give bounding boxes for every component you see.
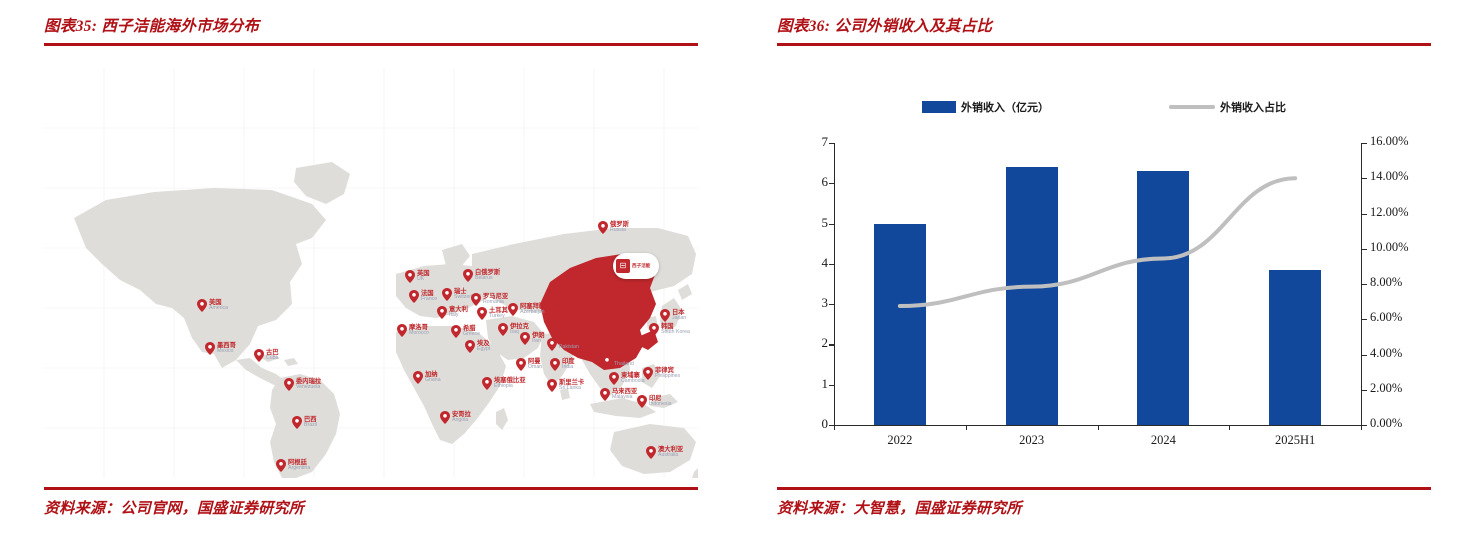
map-marker-label-en: Brazil — [304, 423, 317, 428]
map-marker-label: 希腊Greece — [463, 326, 480, 338]
map-marker-label-en: Ethiopia — [494, 384, 525, 389]
map-marker-label: 斯里兰卡Sri Lanka — [559, 380, 584, 392]
map-marker-label-en: Egypt — [477, 347, 490, 352]
category-label-2025H1: 2025H1 — [1229, 433, 1361, 448]
map-marker-label-en: Azerbaijan — [520, 310, 545, 315]
map-marker-label: 阿曼Oman — [528, 359, 542, 371]
factory-icon: ⊟ — [616, 259, 630, 273]
left-tick-mark — [829, 304, 834, 305]
map-marker-label-en: Malaysia — [612, 395, 637, 400]
map-marker-label: 白俄罗斯Belarus — [475, 270, 500, 282]
map-marker-label: 委内瑞拉Venezuela — [296, 379, 321, 391]
category-label-2023: 2023 — [966, 433, 1098, 448]
map-marker-label-en: Thailand — [614, 362, 634, 367]
map-marker-label-en: Cuba — [266, 356, 279, 361]
source-note-chart: 资料来源：大智慧，国盛证券研究所 — [777, 497, 1022, 518]
category-label-2024: 2024 — [1098, 433, 1230, 448]
legend-label-bar: 外销收入（亿元） — [961, 99, 1049, 115]
line-series — [834, 143, 1361, 425]
map-marker-label: 印尼Indonesia — [649, 396, 672, 408]
category-tick-mark — [1098, 425, 1099, 430]
category-label-2022: 2022 — [834, 433, 966, 448]
map-marker-label-en: Australia — [658, 453, 683, 458]
right-tick-mark — [1361, 284, 1367, 285]
map-marker-label-en: Pakistan — [559, 345, 584, 350]
source-note-map: 资料来源：公司官网，国盛证券研究所 — [44, 497, 304, 518]
right-tick-label: 6.00% — [1370, 310, 1440, 325]
map-marker-label: 阿根廷Argentina — [288, 460, 310, 472]
map-marker-label: 美国America — [209, 300, 228, 312]
page-title-map: 图表35: 西子洁能海外市场分布 — [44, 14, 259, 36]
left-tick-mark — [829, 344, 834, 345]
map-marker-label-en: India — [562, 365, 575, 370]
page-title-chart: 图表36: 公司外销收入及其占比 — [777, 14, 992, 36]
left-tick-label: 0 — [788, 416, 828, 432]
left-tick-mark — [829, 385, 834, 386]
map-marker-label-en: Mexico — [217, 349, 236, 354]
right-tick-label: 14.00% — [1370, 169, 1440, 184]
map-marker-label: 法国France — [421, 291, 437, 303]
map-marker-label-en: Greece — [463, 332, 480, 337]
headquarters-label: 西子洁能 — [632, 264, 650, 269]
right-tick-mark — [1361, 178, 1367, 179]
map-marker-label: 柬埔寨Cambodia — [621, 373, 645, 385]
chart-panel: 图表36: 公司外销收入及其占比 外销收入（亿元） 外销收入占比 0123456… — [733, 0, 1465, 552]
map-marker-label: 土耳其Turkey — [489, 308, 508, 320]
map-marker-label: 意大利Italy — [449, 307, 468, 319]
map-marker-label: 加纳Ghana — [425, 372, 441, 384]
map-marker-label-en: America — [209, 306, 228, 311]
left-tick-mark — [829, 224, 834, 225]
left-tick-label: 4 — [788, 255, 828, 271]
map-marker-label: 韩国South Korea — [661, 324, 690, 336]
map-marker-label-en: Argentina — [288, 466, 310, 471]
right-tick-mark — [1361, 214, 1367, 215]
map-marker-label: 泰国Thailand — [614, 356, 634, 368]
left-tick-label: 5 — [788, 215, 828, 231]
right-tick-mark — [1361, 249, 1367, 250]
left-tick-mark — [829, 183, 834, 184]
combo-chart: 外销收入（亿元） 外销收入占比 01234567 0.00%2.00%4.00%… — [777, 68, 1431, 478]
bar-swatch-icon — [922, 101, 956, 113]
map-marker-label: 伊朗Iran — [532, 333, 545, 345]
left-tick-mark — [829, 264, 834, 265]
right-tick-mark — [1361, 143, 1367, 144]
map-marker-label: 澳大利亚Australia — [658, 447, 683, 459]
world-map-svg — [44, 68, 698, 478]
map-marker-label-en: Iran — [532, 339, 545, 344]
left-tick-label: 1 — [788, 376, 828, 392]
plot-area: 01234567 0.00%2.00%4.00%6.00%8.00%10.00%… — [834, 143, 1361, 425]
map-marker-label-en: Indonesia — [649, 402, 672, 407]
map-marker-label: 埃及Egypt — [477, 341, 490, 353]
right-tick-label: 0.00% — [1370, 416, 1440, 431]
map-marker-label: 菲律宾Philippines — [655, 368, 680, 380]
title-divider-right — [777, 43, 1431, 46]
map-marker-label-en: Turkey — [489, 314, 508, 319]
left-tick-label: 7 — [788, 134, 828, 150]
map-marker-label: 罗马尼亚Romania — [483, 294, 508, 306]
legend-item-bar[interactable]: 外销收入（亿元） — [922, 99, 1049, 115]
left-tick-label: 3 — [788, 295, 828, 311]
map-marker-label-en: Cambodia — [621, 379, 645, 384]
map-marker-label: 阿塞拜疆Azerbaijan — [520, 304, 545, 316]
line-swatch-icon — [1169, 105, 1215, 109]
map-marker-label: 古巴Cuba — [266, 350, 279, 362]
chart-legend: 外销收入（亿元） 外销收入占比 — [777, 96, 1431, 118]
source-divider-right — [777, 487, 1431, 490]
map-panel: 图表35: 西子洁能海外市场分布 — [0, 0, 732, 552]
map-marker-label-en: Oman — [528, 365, 542, 370]
category-tick-mark — [966, 425, 967, 430]
map-marker-label-en: Sri Lanka — [559, 386, 584, 391]
map-marker-label-en: UK — [417, 277, 430, 282]
right-tick-label: 4.00% — [1370, 346, 1440, 361]
map-marker-label-en: Romania — [483, 300, 508, 305]
map-marker-label: 印度India — [562, 359, 575, 371]
map-marker-label: 英国UK — [417, 271, 430, 283]
right-tick-label: 12.00% — [1370, 205, 1440, 220]
map-marker-label-en: Ghana — [425, 378, 441, 383]
left-tick-label: 6 — [788, 174, 828, 190]
right-tick-mark — [1361, 319, 1367, 320]
map-marker-label: 墨西哥Mexico — [217, 343, 236, 355]
map-marker-label-en: Venezuela — [296, 385, 321, 390]
right-tick-label: 16.00% — [1370, 134, 1440, 149]
right-tick-mark — [1361, 390, 1367, 391]
left-tick-label: 2 — [788, 335, 828, 351]
right-tick-label: 8.00% — [1370, 275, 1440, 290]
right-tick-mark — [1361, 355, 1367, 356]
map-marker-label: 日本Japan — [672, 310, 686, 322]
right-tick-label: 10.00% — [1370, 240, 1440, 255]
category-tick-mark — [1361, 425, 1362, 430]
map-marker-label: 俄罗斯Russia — [610, 222, 629, 234]
map-marker-label-en: Japan — [672, 316, 686, 321]
map-marker-label-en: Philippines — [655, 374, 680, 379]
map-marker-label-en: Italy — [449, 313, 468, 318]
world-map: ⊟ 西子洁能 美国America墨西哥Mexico古巴Cuba委内瑞拉Venez… — [44, 68, 698, 478]
headquarters-marker[interactable]: ⊟ 西子洁能 — [613, 253, 659, 279]
title-divider-left — [44, 43, 698, 46]
map-marker-label-en: France — [421, 297, 437, 302]
legend-item-line[interactable]: 外销收入占比 — [1169, 99, 1286, 115]
map-marker-label: 安哥拉Angola — [452, 412, 471, 424]
source-divider-left — [44, 487, 698, 490]
map-marker-label-en: South Korea — [661, 330, 690, 335]
map-marker-label: 巴西Brazil — [304, 417, 317, 429]
map-marker-label: 摩洛哥Morocco — [409, 325, 429, 337]
map-marker-label: 巴基斯坦Pakistan — [559, 339, 584, 351]
map-marker-label-en: Belarus — [475, 276, 500, 281]
map-marker-label-en: Morocco — [409, 331, 429, 336]
left-tick-mark — [829, 143, 834, 144]
category-tick-mark — [1229, 425, 1230, 430]
category-tick-mark — [834, 425, 835, 430]
map-marker-label-en: Russia — [610, 228, 629, 233]
map-marker-label-en: Angola — [452, 418, 471, 423]
legend-label-line: 外销收入占比 — [1220, 99, 1286, 115]
map-marker-label: 埃塞俄比亚Ethiopia — [494, 378, 525, 390]
right-tick-label: 2.00% — [1370, 381, 1440, 396]
map-marker-label: 马来西亚Malaysia — [612, 389, 637, 401]
